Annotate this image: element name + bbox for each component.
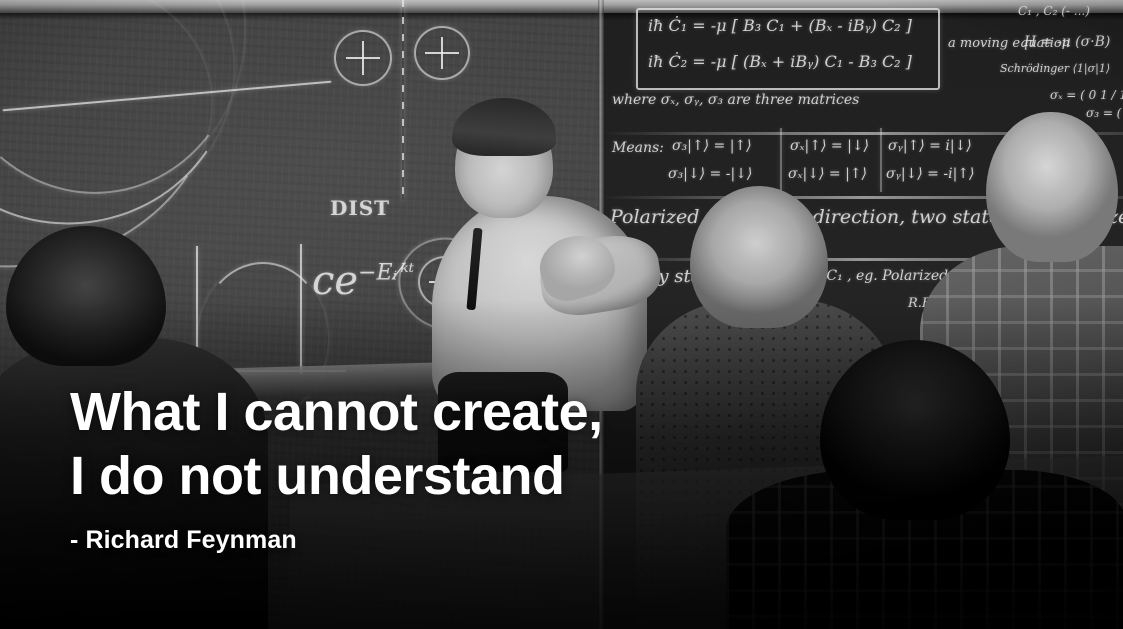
quote-line-1: What I cannot create, xyxy=(70,380,770,444)
quote-line-2: I do not understand xyxy=(70,444,770,508)
quote-block: What I cannot create, I do not understan… xyxy=(70,380,770,555)
quote-attribution: - Richard Feynman xyxy=(70,526,770,555)
quote-card: DIST ce−Eᵢ⁄ᵏᵗ iħ Ċ₁ = -μ [ B₃ C₁ + (Bₓ -… xyxy=(0,0,1123,629)
